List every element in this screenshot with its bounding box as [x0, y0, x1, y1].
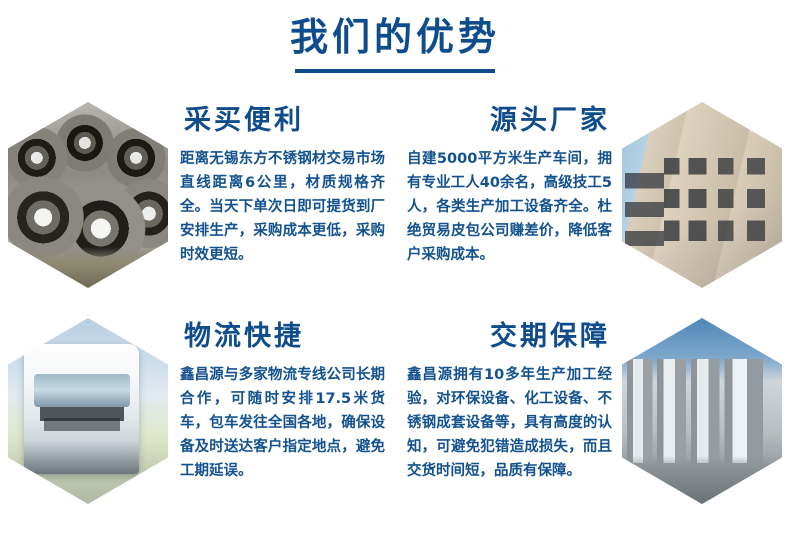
advantages-page: 我们的优势 采买便利 距离无锡东方不锈钢材交易市场直线距离6公里，材质规格齐全。… [0, 0, 790, 548]
stainless-tanks-photo [622, 318, 782, 504]
title-underline-rule [295, 69, 495, 73]
advantage-card-1: 采买便利 距离无锡东方不锈钢材交易市场直线距离6公里，材质规格齐全。当天下单次日… [0, 96, 395, 322]
advantage-card-4-body: 鑫昌源拥有10多年生产加工经验，对环保设备、化工设备、不锈钢成套设备等，具有高度… [407, 363, 612, 483]
page-title: 我们的优势 [0, 14, 790, 60]
advantage-card-1-body: 距离无锡东方不锈钢材交易市场直线距离6公里，材质规格齐全。当天下单次日即可提货到… [180, 147, 385, 267]
page-header: 我们的优势 [0, 14, 790, 73]
hexagon-frame [622, 318, 782, 504]
advantage-card-2-heading: 源头厂家 [407, 104, 612, 138]
advantage-card-2: 源头厂家 自建5000平方米生产车间，拥有专业工人40余名，高级技工5人，各类生… [395, 96, 790, 322]
advantage-card-3-body: 鑫昌源与多家物流专线公司长期合作，可随时安排17.5米货车，包车发往全国各地，确… [180, 363, 385, 483]
advantage-card-3: 物流快捷 鑫昌源与多家物流专线公司长期合作，可随时安排17.5米货车，包车发往全… [0, 312, 395, 538]
steel-coils-photo-wrapper [8, 102, 168, 288]
advantage-card-1-text: 采买便利 距离无锡东方不锈钢材交易市场直线距离6公里，材质规格齐全。当天下单次日… [174, 96, 395, 267]
advantage-card-3-text: 物流快捷 鑫昌源与多家物流专线公司长期合作，可随时安排17.5米货车，包车发往全… [174, 312, 395, 483]
delivery-truck-photo [8, 318, 168, 504]
factory-building-photo [622, 102, 782, 288]
factory-building-photo-wrapper [622, 102, 782, 288]
delivery-truck-photo-wrapper [8, 318, 168, 504]
steel-coils-photo [8, 102, 168, 288]
advantage-card-1-heading: 采买便利 [180, 104, 385, 138]
advantage-card-2-body: 自建5000平方米生产车间，拥有专业工人40余名，高级技工5人，各类生产加工设备… [407, 147, 612, 267]
advantage-card-grid: 采买便利 距离无锡东方不锈钢材交易市场直线距离6公里，材质规格齐全。当天下单次日… [0, 96, 790, 548]
advantage-card-4-heading: 交期保障 [407, 320, 612, 354]
stainless-tanks-photo-wrapper [622, 318, 782, 504]
advantage-card-3-heading: 物流快捷 [180, 320, 385, 354]
advantage-card-4-text: 交期保障 鑫昌源拥有10多年生产加工经验，对环保设备、化工设备、不锈钢成套设备等… [395, 312, 616, 483]
advantage-card-4: 交期保障 鑫昌源拥有10多年生产加工经验，对环保设备、化工设备、不锈钢成套设备等… [395, 312, 790, 538]
advantage-card-2-text: 源头厂家 自建5000平方米生产车间，拥有专业工人40余名，高级技工5人，各类生… [395, 96, 616, 267]
hexagon-frame [622, 102, 782, 288]
hexagon-frame [8, 102, 168, 288]
hexagon-frame [8, 318, 168, 504]
